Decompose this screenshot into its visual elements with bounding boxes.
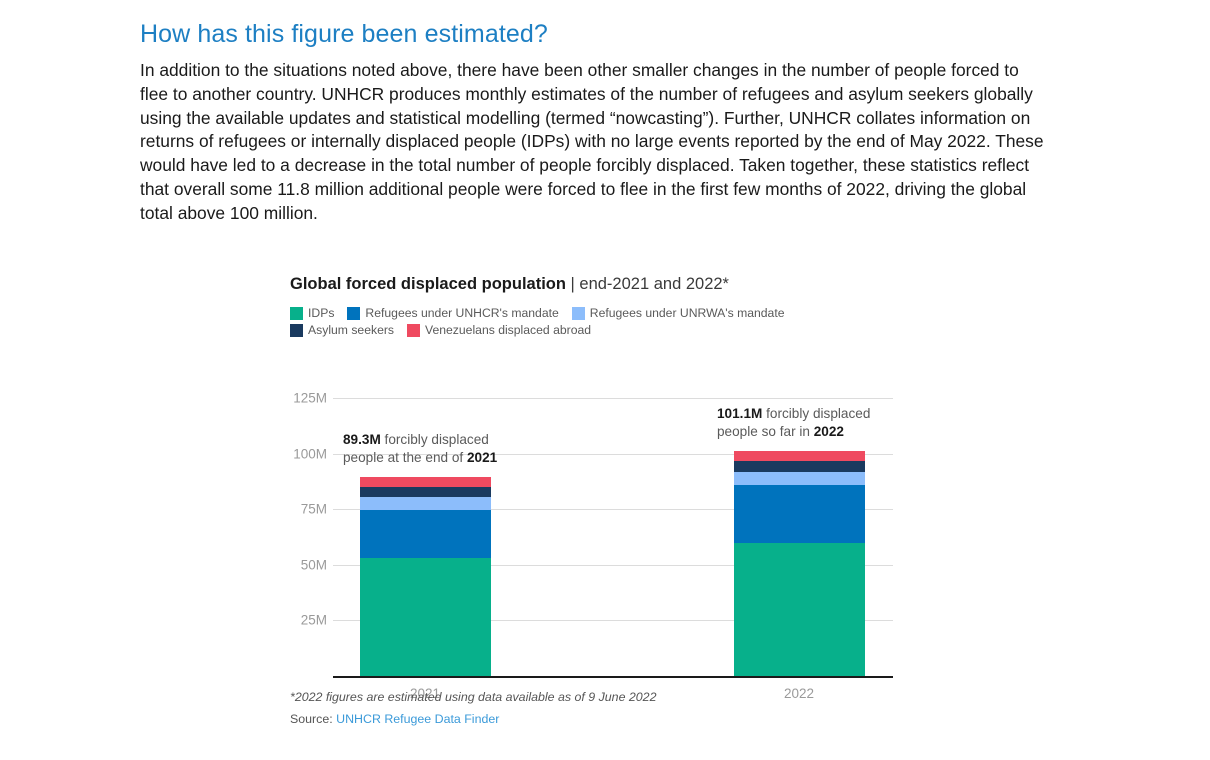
chart-title-main: Global forced displaced population	[290, 275, 566, 293]
article-body: In addition to the situations noted abov…	[140, 59, 1045, 226]
bar-segment[interactable]	[360, 477, 491, 487]
source-prefix: Source:	[290, 712, 336, 726]
page-title: How has this figure been estimated?	[140, 20, 1045, 49]
bar-annotation: 101.1M forcibly displacedpeople so far i…	[717, 405, 870, 440]
bar-segment[interactable]	[360, 558, 491, 676]
bar-segment[interactable]	[360, 510, 491, 557]
bar-segment[interactable]	[734, 485, 865, 543]
legend-swatch-icon	[290, 307, 303, 320]
bar-segment[interactable]	[734, 543, 865, 676]
y-axis-tick-label: 100M	[290, 446, 327, 461]
y-axis-tick-label: 50M	[290, 557, 327, 572]
bar-segment[interactable]	[734, 451, 865, 461]
y-gridline	[333, 398, 893, 399]
legend-swatch-icon	[572, 307, 585, 320]
legend-label: Venezuelans displaced abroad	[425, 322, 591, 339]
legend-label: Refugees under UNHCR's mandate	[365, 305, 558, 322]
chart-plot-area: 25M50M75M100M125M2021202289.3M forcibly …	[290, 358, 910, 678]
chart-title: Global forced displaced population | end…	[290, 274, 910, 294]
chart-source: Source: UNHCR Refugee Data Finder	[290, 710, 910, 728]
legend-label: Refugees under UNRWA's mandate	[590, 305, 785, 322]
bar-segment[interactable]	[360, 497, 491, 510]
chart-legend: IDPs Refugees under UNHCR's mandate Refu…	[290, 305, 910, 339]
legend-swatch-icon	[347, 307, 360, 320]
bar-annotation: 89.3M forcibly displacedpeople at the en…	[343, 431, 497, 466]
legend-item-asylum-seekers[interactable]: Asylum seekers	[290, 322, 394, 339]
x-axis-line	[333, 676, 893, 678]
legend-label: Asylum seekers	[308, 322, 394, 339]
article-section: How has this figure been estimated? In a…	[140, 20, 1045, 226]
chart-title-sub: | end-2021 and 2022*	[566, 275, 729, 293]
legend-item-unhcr-refugees[interactable]: Refugees under UNHCR's mandate	[347, 305, 558, 322]
legend-item-idps[interactable]: IDPs	[290, 305, 334, 322]
legend-swatch-icon	[407, 324, 420, 337]
legend-row-1: IDPs Refugees under UNHCR's mandate Refu…	[290, 305, 910, 322]
legend-item-venezuelans[interactable]: Venezuelans displaced abroad	[407, 322, 591, 339]
chart-container: Global forced displaced population | end…	[290, 274, 910, 678]
bar-2022[interactable]	[734, 451, 865, 676]
y-axis-tick-label: 125M	[290, 391, 327, 406]
legend-item-unrwa-refugees[interactable]: Refugees under UNRWA's mandate	[572, 305, 785, 322]
y-axis-tick-label: 75M	[290, 502, 327, 517]
legend-swatch-icon	[290, 324, 303, 337]
legend-label: IDPs	[308, 305, 334, 322]
y-axis-tick-label: 25M	[290, 613, 327, 628]
legend-row-2: Asylum seekers Venezuelans displaced abr…	[290, 322, 910, 339]
bar-segment[interactable]	[734, 472, 865, 485]
bar-segment[interactable]	[734, 461, 865, 472]
source-link[interactable]: UNHCR Refugee Data Finder	[336, 712, 499, 726]
chart-footnotes: *2022 figures are estimated using data a…	[290, 688, 910, 728]
bar-segment[interactable]	[360, 487, 491, 497]
chart-footnote: *2022 figures are estimated using data a…	[290, 688, 910, 706]
bar-2021[interactable]	[360, 477, 491, 676]
page-root: How has this figure been estimated? In a…	[0, 0, 1210, 760]
